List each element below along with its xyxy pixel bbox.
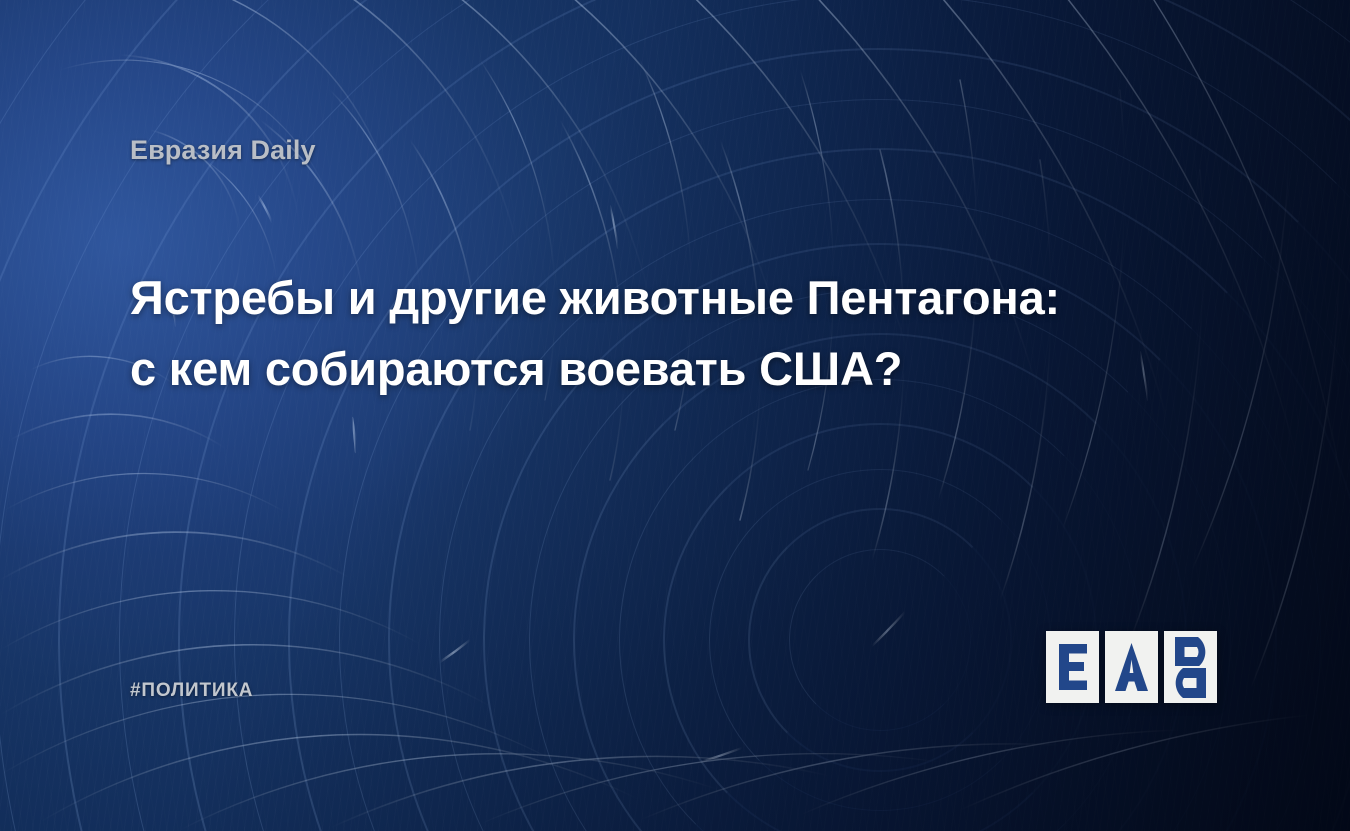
eadaily-logo [1046, 631, 1217, 703]
page-title: Ястребы и другие животные Пентагона: с к… [130, 262, 1250, 405]
publisher-brand: Евразия Daily [130, 135, 316, 166]
headline-line-1: Ястребы и другие животные Пентагона: [130, 262, 1250, 333]
logo-tile-a [1105, 631, 1158, 703]
logo-tile-d [1164, 631, 1217, 703]
category-tag: #ПОЛИТИКА [130, 680, 253, 702]
logo-tile-e [1046, 631, 1099, 703]
social-share-card: Евразия Daily Ястребы и другие животные … [0, 0, 1350, 831]
headline-line-2: с кем собираются воевать США? [130, 333, 1250, 404]
